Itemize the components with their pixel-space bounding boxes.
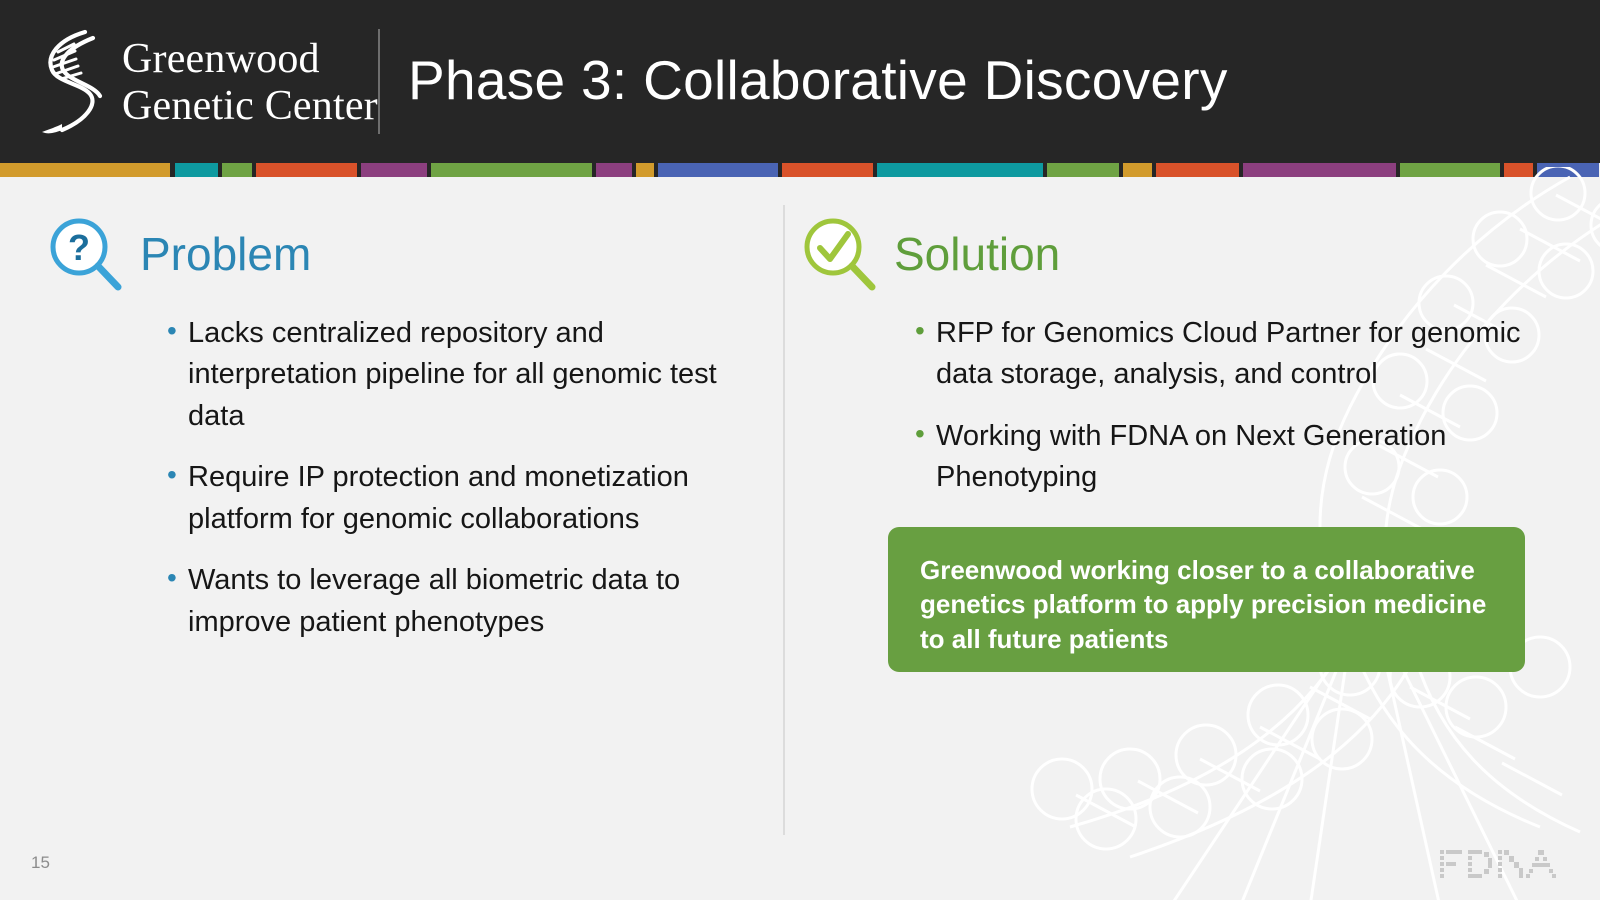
logo-wordmark: Greenwood Genetic Center [122, 38, 378, 127]
problem-bullet-3: Wants to leverage all biometric data to … [146, 560, 746, 643]
page-title: Phase 3: Collaborative Discovery [408, 48, 1228, 112]
color-strip-segment-4 [222, 163, 252, 177]
page-number: 15 [31, 853, 50, 873]
column-divider [783, 205, 785, 835]
solution-title: Solution [894, 231, 1060, 277]
color-strip-segment-10 [431, 163, 592, 177]
color-strip-segment-20 [877, 163, 1043, 177]
color-strip [0, 163, 1600, 177]
fdna-logo-icon [1440, 848, 1558, 878]
color-strip-segment-14 [636, 163, 654, 177]
solution-callout-text: Greenwood working closer to a collaborat… [920, 553, 1495, 656]
color-strip-segment-16 [658, 163, 778, 177]
solution-callout-box: Greenwood working closer to a collaborat… [888, 527, 1525, 672]
problem-bullet-list: Lacks centralized repository and interpr… [146, 313, 746, 643]
color-strip-segment-30 [1400, 163, 1500, 177]
color-strip-segment-2 [175, 163, 218, 177]
solution-header: Solution [800, 211, 1560, 297]
solution-bullet-2: Working with FDNA on Next Generation Phe… [894, 416, 1534, 499]
problem-title: Problem [140, 231, 311, 277]
color-strip-segment-32 [1504, 163, 1533, 177]
slide-body: ? Problem Lacks centralized repository a… [0, 177, 1600, 900]
color-strip-segment-26 [1156, 163, 1239, 177]
svg-text:?: ? [68, 227, 90, 268]
color-strip-segment-28 [1243, 163, 1396, 177]
greenwood-logo: Greenwood Genetic Center [38, 26, 378, 138]
problem-bullet-1: Lacks centralized repository and interpr… [146, 313, 746, 437]
logo-line-1: Greenwood [122, 38, 378, 80]
logo-line-2: Genetic Center [122, 85, 378, 127]
solution-column: Solution RFP for Genomics Cloud Partner … [800, 177, 1560, 519]
problem-header: ? Problem [46, 211, 766, 297]
problem-bullet-2: Require IP protection and monetization p… [146, 457, 746, 540]
dna-helix-icon [38, 28, 112, 136]
header-vertical-divider [378, 29, 380, 134]
color-strip-segment-8 [361, 163, 427, 177]
problem-column: ? Problem Lacks centralized repository a… [46, 177, 766, 663]
color-strip-segment-18 [782, 163, 873, 177]
color-strip-segment-22 [1047, 163, 1119, 177]
slide-header: Greenwood Genetic Center Phase 3: Collab… [0, 0, 1600, 163]
color-strip-segment-12 [596, 163, 632, 177]
slide: Greenwood Genetic Center Phase 3: Collab… [0, 0, 1600, 900]
color-strip-segment-0 [0, 163, 170, 177]
color-strip-segment-6 [256, 163, 357, 177]
color-strip-segment-24 [1123, 163, 1152, 177]
color-strip-segment-34 [1537, 163, 1599, 177]
magnifier-question-icon: ? [46, 215, 124, 293]
magnifier-check-icon [800, 215, 878, 293]
solution-bullet-list: RFP for Genomics Cloud Partner for genom… [894, 313, 1534, 499]
solution-bullet-1: RFP for Genomics Cloud Partner for genom… [894, 313, 1534, 396]
